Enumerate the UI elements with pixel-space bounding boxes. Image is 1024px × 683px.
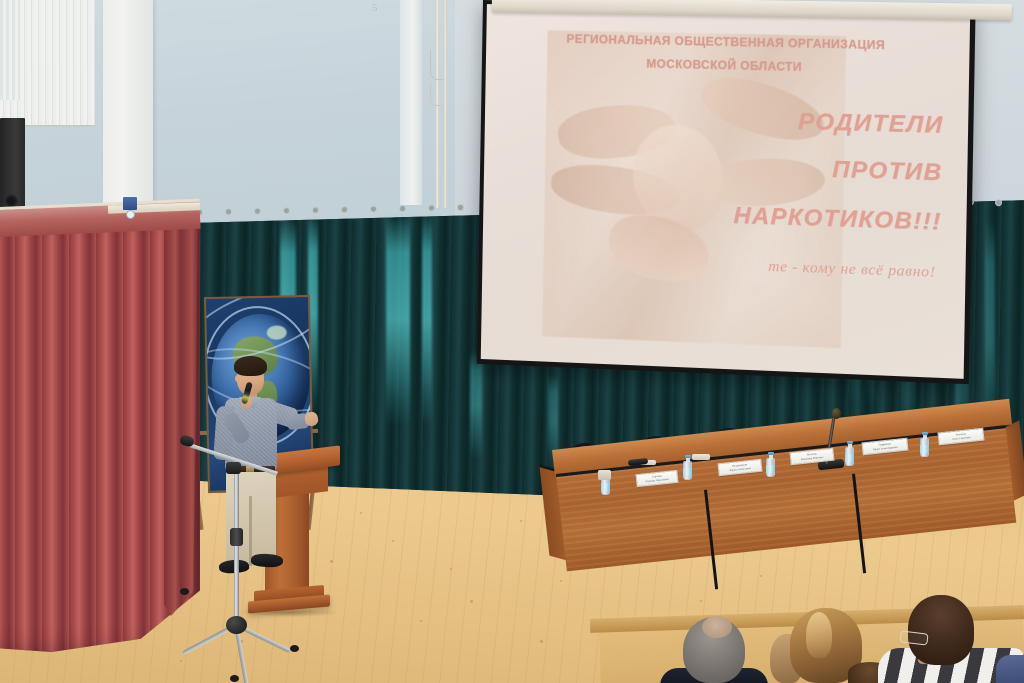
curtain-ring (341, 206, 348, 213)
water-bottle (683, 455, 692, 480)
bottle-part (683, 468, 692, 476)
wall-scuff-mark: 5 (372, 2, 378, 14)
placard-given-name: Ольга Сергеевна (952, 436, 971, 441)
floor-speck (420, 620, 422, 622)
bottle-part (768, 452, 774, 456)
floor-speck (470, 600, 473, 603)
curtain-ring (254, 208, 261, 215)
water-bottle (766, 452, 775, 477)
wall-hook-secondary-icon (430, 84, 442, 106)
wall-cable-secondary (444, 0, 447, 208)
audience-member-1-bald-spot (702, 616, 732, 638)
audience-member-2-hair-highlight (806, 612, 832, 658)
floor-speck (700, 600, 702, 602)
slide-title-line-2: ПРОТИВ (832, 156, 943, 187)
placard-given-name: Надежда Николаевна (645, 477, 669, 483)
gooseneck-microphone-secondary (628, 455, 650, 467)
wall-loudspeaker (0, 118, 25, 216)
curtain-ring (399, 205, 406, 212)
mic-stand-foot (230, 675, 239, 682)
wall-pillar-center (400, 0, 422, 205)
curtain-highlight (422, 213, 432, 427)
table-glass (598, 470, 611, 480)
presidium-table (552, 430, 1022, 590)
table-papers (692, 454, 710, 460)
floor-speck (450, 568, 452, 570)
bottle-part (920, 445, 929, 453)
floor-speck (360, 512, 362, 514)
mic-stand-boom-joint (226, 462, 241, 474)
bottle-part (601, 483, 610, 491)
boom-microphone-stand (186, 420, 326, 650)
bottle-part (685, 455, 691, 459)
mic-stand-hub (226, 616, 247, 634)
audience-member-5-shoulder (996, 655, 1024, 683)
mic-stand-clutch (230, 528, 243, 546)
curtain-highlight (386, 214, 410, 426)
projection-screen: РЕГИОНАЛЬНАЯ ОБЩЕСТВЕННАЯ ОРГАНИЗАЦИЯ МО… (477, 0, 976, 384)
floor-speck (540, 640, 543, 643)
curtain-ring (457, 204, 464, 211)
conference-hall-photo: 5 РЕГИОНАЛЬНАЯ ОБЩЕСТВЕННАЯ ОРГАНИЗАЦИЯ … (0, 0, 1024, 683)
floor-speck (392, 540, 394, 542)
gooseneck-microphone (818, 408, 852, 472)
curtain-ring (428, 204, 435, 211)
curtain-ring (225, 208, 232, 215)
slide-title-line-1: РОДИТЕЛИ (798, 107, 944, 138)
floor-speck (520, 520, 522, 522)
wall-hook-icon (430, 50, 444, 80)
mic-stand-foot (180, 588, 189, 595)
audience-member-3-head (908, 595, 974, 665)
slide-background-photo (542, 30, 846, 348)
curtain-ring (370, 206, 377, 213)
bottle-part (922, 432, 928, 436)
curtain-highlight (470, 350, 482, 460)
placard-given-name: Ирина Александровна (873, 445, 898, 451)
bottle-part (766, 465, 775, 473)
projection-screen-surface: РЕГИОНАЛЬНАЯ ОБЩЕСТВЕННАЯ ОРГАНИЗАЦИЯ МО… (481, 4, 970, 379)
presenter-hair (234, 356, 267, 376)
floor-speck (180, 660, 182, 662)
placard-given-name: Лариса Алексеевна (729, 466, 751, 471)
placard-given-name: Владимир Павлович (801, 455, 824, 461)
microphone-capsule (832, 408, 841, 419)
wall-pillar-left (103, 0, 153, 215)
microphone-base (628, 458, 649, 466)
curtain-ring (283, 207, 290, 214)
curtain-ring (995, 199, 1002, 206)
presenter-ear (235, 375, 240, 382)
curtain-ring (312, 207, 319, 214)
mic-stand-foot (290, 645, 299, 652)
water-bottle (920, 432, 929, 457)
window-blinds-secondary (0, 0, 20, 100)
ledge-blue-object (123, 197, 137, 210)
